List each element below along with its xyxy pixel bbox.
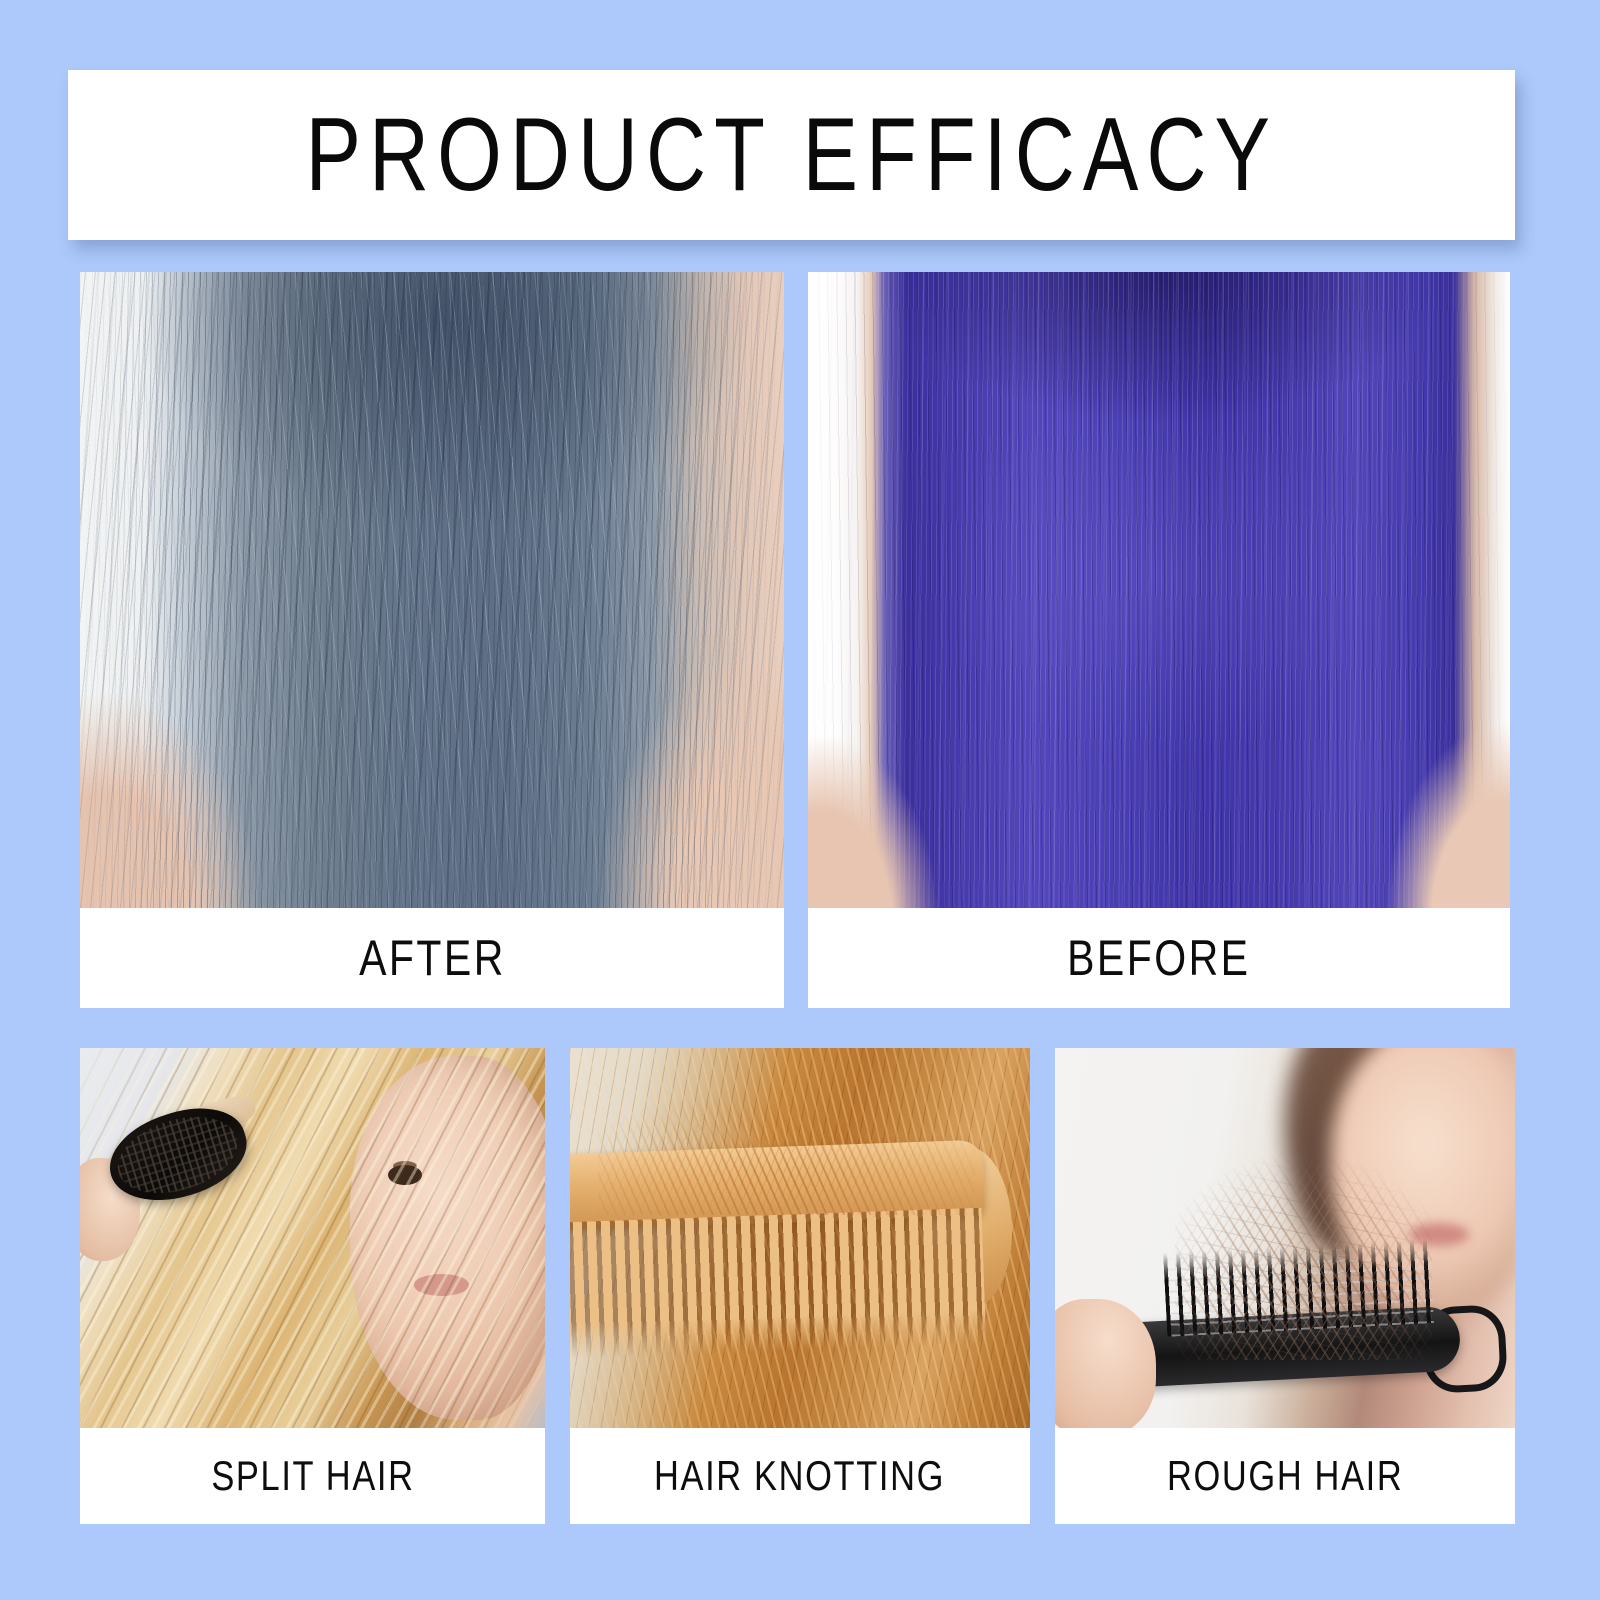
problem-panel-rough-hair: ROUGH HAIR — [1055, 1048, 1515, 1524]
split-hair-caption-strip: SPLIT HAIR — [80, 1428, 545, 1524]
before-hair-photo — [808, 272, 1510, 908]
product-efficacy-poster: PRODUCT EFFICACY AFTER BEFORE SPLI — [0, 0, 1600, 1600]
after-caption-strip: AFTER — [80, 908, 784, 1008]
hair-knotting-caption-strip: HAIR KNOTTING — [570, 1428, 1030, 1524]
after-hair-photo — [80, 272, 784, 908]
split-hair-label: SPLIT HAIR — [211, 1455, 414, 1497]
problem-panel-hair-knotting: HAIR KNOTTING — [570, 1048, 1030, 1524]
rough-hair-caption-strip: ROUGH HAIR — [1055, 1428, 1515, 1524]
rough-hair-label: ROUGH HAIR — [1167, 1455, 1403, 1497]
before-label: BEFORE — [1067, 933, 1250, 983]
hair-knotting-photo — [570, 1048, 1030, 1428]
title-card: PRODUCT EFFICACY — [68, 70, 1515, 240]
page-title: PRODUCT EFFICACY — [305, 103, 1277, 207]
comparison-panel-after: AFTER — [80, 272, 784, 1008]
brush-bristles-icon — [1163, 1239, 1434, 1336]
problem-panel-split-hair: SPLIT HAIR — [80, 1048, 545, 1524]
after-label: AFTER — [359, 933, 506, 983]
before-caption-strip: BEFORE — [808, 908, 1510, 1008]
hand — [1055, 1299, 1156, 1428]
comb-teeth-icon — [570, 1208, 986, 1359]
frizz-texture-layer — [80, 272, 784, 908]
comparison-panel-before: BEFORE — [808, 272, 1510, 1008]
frizz-texture-layer — [80, 272, 784, 908]
split-hair-photo — [80, 1048, 545, 1428]
frizz-texture-layer — [80, 272, 784, 908]
rough-hair-photo — [1055, 1048, 1515, 1428]
hair-knotting-label: HAIR KNOTTING — [654, 1455, 945, 1497]
hair-strand-texture-layer — [808, 272, 1510, 908]
woman-face — [350, 1056, 545, 1421]
